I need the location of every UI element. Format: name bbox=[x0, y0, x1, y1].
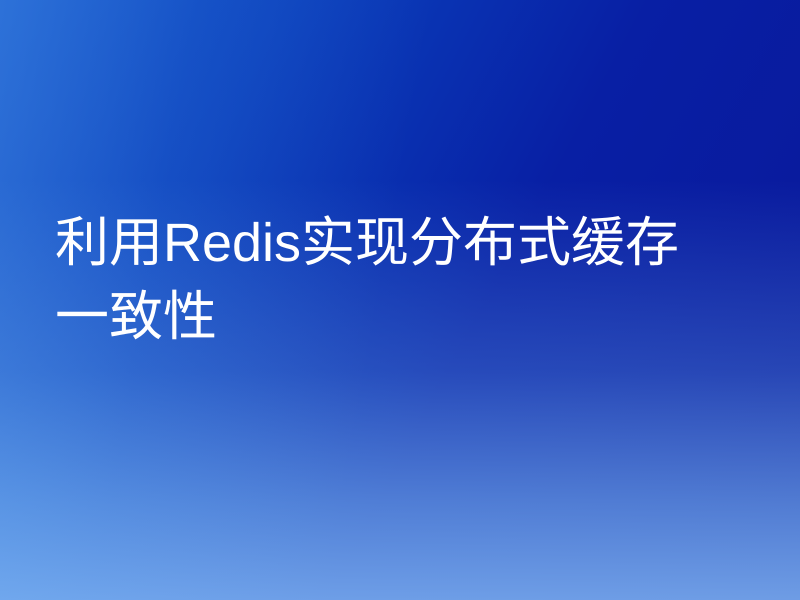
title-card-stage: 利用Redis实现分布式缓存一致性 bbox=[0, 0, 800, 600]
page-title: 利用Redis实现分布式缓存一致性 bbox=[55, 206, 715, 354]
title-block: 利用Redis实现分布式缓存一致性 bbox=[55, 206, 715, 354]
